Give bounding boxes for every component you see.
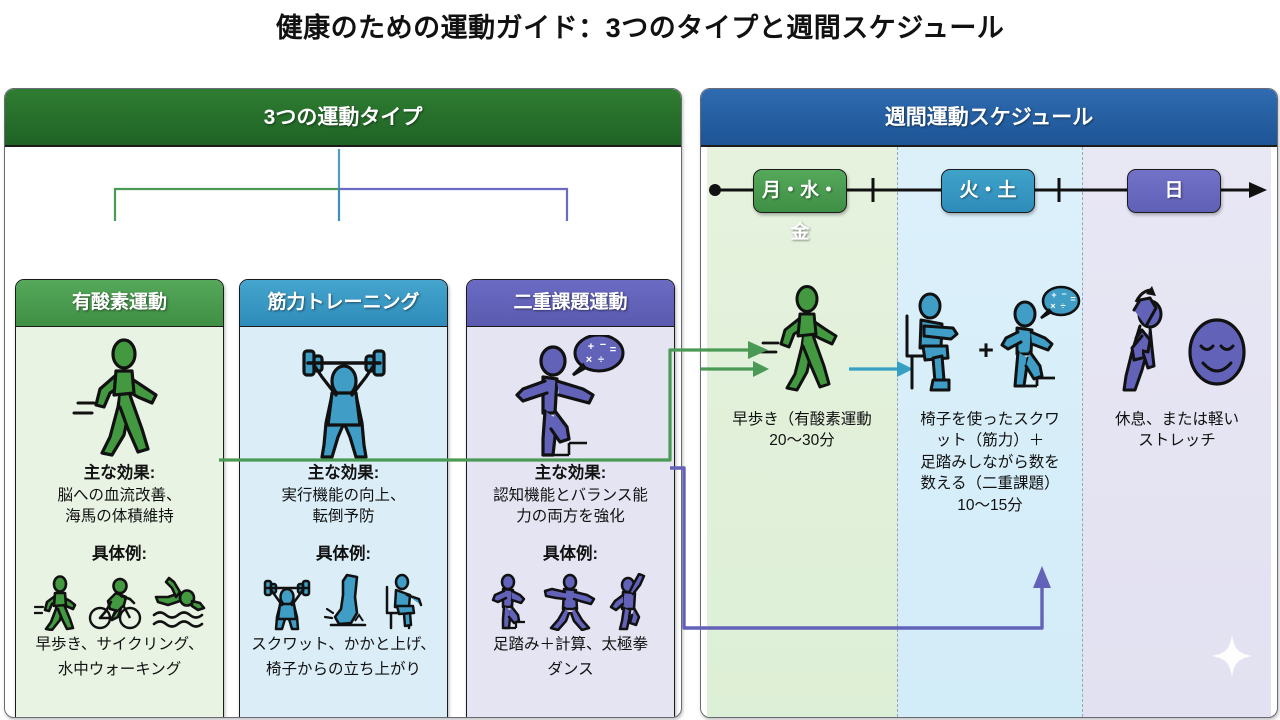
card-aerobic-example-line2: 水中ウォーキング	[22, 660, 217, 680]
svg-text:+: +	[1051, 290, 1056, 300]
heel-raise-foot-icon	[321, 573, 369, 631]
card-dual-task-effect-line1: 認知機能とバランス能	[473, 486, 668, 506]
day-pill-sun[interactable]: 日	[1127, 169, 1221, 213]
card-aerobic-effect-label: 主な効果:	[22, 463, 217, 485]
schedule-icons-col3	[1083, 284, 1271, 394]
day-pill-mon-wed-fri[interactable]: 月・水・金	[753, 169, 847, 213]
schedule-col1-line2: 20〜30分	[713, 430, 891, 451]
walking-person-icon	[759, 284, 845, 394]
card-strength-example-icons	[246, 569, 441, 631]
card-aerobic-title: 有酸素運動	[16, 280, 223, 327]
svg-text:−: −	[599, 339, 605, 351]
card-aerobic[interactable]: 有酸素運動 主な効	[15, 279, 224, 718]
dual-task-person-icon: +− =×÷	[473, 335, 668, 461]
card-dual-task-example-icons	[473, 569, 668, 631]
stretching-person-icon	[1104, 286, 1184, 394]
schedule-col2-line1: 椅子を使ったスクワ	[903, 409, 1077, 430]
svg-text:÷: ÷	[1060, 301, 1065, 311]
marching-person-icon: +− =×÷	[999, 284, 1083, 394]
schedule-text-col1: 早歩き（有酸素運動 20〜30分	[707, 409, 897, 452]
card-aerobic-example-icons	[22, 569, 217, 631]
chair-squat-person-icon	[897, 290, 973, 394]
card-dual-task-title: 二重課題運動	[467, 280, 674, 327]
svg-text:÷: ÷	[597, 354, 603, 366]
card-dual-task-body: +− =×÷ 主な効果: 認知機能とバランス能 力の両方を強化 具体例:	[467, 327, 674, 680]
weightlifting-person-icon	[261, 575, 313, 631]
svg-text:=: =	[1070, 294, 1075, 304]
svg-text:+: +	[587, 341, 593, 353]
weekly-schedule-panel: 週間運動スケジュール 月・水・金 火・土 日	[700, 88, 1278, 718]
weightlifting-person-icon	[246, 335, 441, 461]
schedule-col3-line2: ストレッチ	[1089, 430, 1265, 451]
dancing-person-icon	[606, 573, 652, 631]
schedule-col2-line2: ット（筋力）＋	[903, 430, 1077, 451]
card-strength-effect-line1: 実行機能の向上、	[246, 486, 441, 506]
card-aerobic-body: 主な効果: 脳への血流改善、 海馬の体積維持 具体例:	[16, 327, 223, 680]
card-strength-example-label: 具体例:	[246, 544, 441, 566]
card-aerobic-example-label: 具体例:	[22, 544, 217, 566]
schedule-col2-line5: 10〜15分	[903, 495, 1077, 516]
schedule-icons-col1	[707, 284, 897, 394]
card-dual-task-effect-line2: 力の両方を強化	[473, 507, 668, 527]
taichi-person-icon	[542, 573, 598, 631]
schedule-col1-line1: 早歩き（有酸素運動	[713, 409, 891, 430]
chair-stand-person-icon	[377, 573, 427, 631]
weekly-schedule-header: 週間運動スケジュール	[701, 89, 1277, 147]
svg-text:×: ×	[1050, 301, 1055, 311]
card-strength[interactable]: 筋力トレーニング	[239, 279, 448, 718]
page-title: 健康のための運動ガイド：3つのタイプと週間スケジュール	[0, 6, 1280, 45]
schedule-text-col3: 休息、または軽い ストレッチ	[1083, 409, 1271, 452]
exercise-types-panel: 3つの運動タイプ 有酸素運動	[4, 88, 682, 718]
cycling-person-icon	[88, 575, 142, 631]
card-dual-task-example-line2: ダンス	[473, 660, 668, 680]
day-pill-tue-sat[interactable]: 火・土	[941, 169, 1035, 213]
plus-sign-icon: +	[978, 335, 994, 366]
card-dual-task[interactable]: 二重課題運動	[466, 279, 675, 718]
svg-text:=: =	[609, 344, 615, 356]
svg-text:−: −	[1061, 289, 1066, 299]
card-dual-task-example-line1: 足踏み＋計算、太極拳	[473, 635, 668, 655]
marching-person-icon	[490, 573, 534, 631]
schedule-icons-col2: + +− =×÷	[897, 284, 1083, 394]
swimming-person-icon	[150, 575, 206, 631]
card-strength-title: 筋力トレーニング	[240, 280, 447, 327]
card-aerobic-example-line1: 早歩き、サイクリング、	[22, 635, 217, 655]
card-aerobic-effect-line2: 海馬の体積維持	[22, 507, 217, 527]
schedule-text-col2: 椅子を使ったスクワ ット（筋力）＋ 足踏みしながら数を 数える（二重課題） 10…	[897, 409, 1083, 516]
card-strength-effect-line2: 転倒予防	[246, 507, 441, 527]
relaxed-face-icon	[1184, 308, 1250, 394]
card-strength-body: 主な効果: 実行機能の向上、 転倒予防 具体例:	[240, 327, 447, 680]
card-strength-effect-label: 主な効果:	[246, 463, 441, 485]
card-strength-example-line2: 椅子からの立ち上がり	[246, 660, 441, 680]
schedule-col3-line1: 休息、または軽い	[1089, 409, 1265, 430]
schedule-col2-line4: 数える（二重課題）	[903, 473, 1077, 494]
svg-text:×: ×	[585, 354, 591, 366]
card-dual-task-effect-label: 主な効果:	[473, 463, 668, 485]
card-dual-task-example-label: 具体例:	[473, 544, 668, 566]
card-aerobic-effect-line1: 脳への血流改善、	[22, 486, 217, 506]
card-strength-example-line1: スクワット、かかと上げ、	[246, 635, 441, 655]
schedule-col2-line3: 足踏みしながら数を	[903, 452, 1077, 473]
walking-person-icon	[22, 335, 217, 461]
sparkle-icon	[1209, 633, 1255, 679]
walking-person-icon	[34, 575, 80, 631]
